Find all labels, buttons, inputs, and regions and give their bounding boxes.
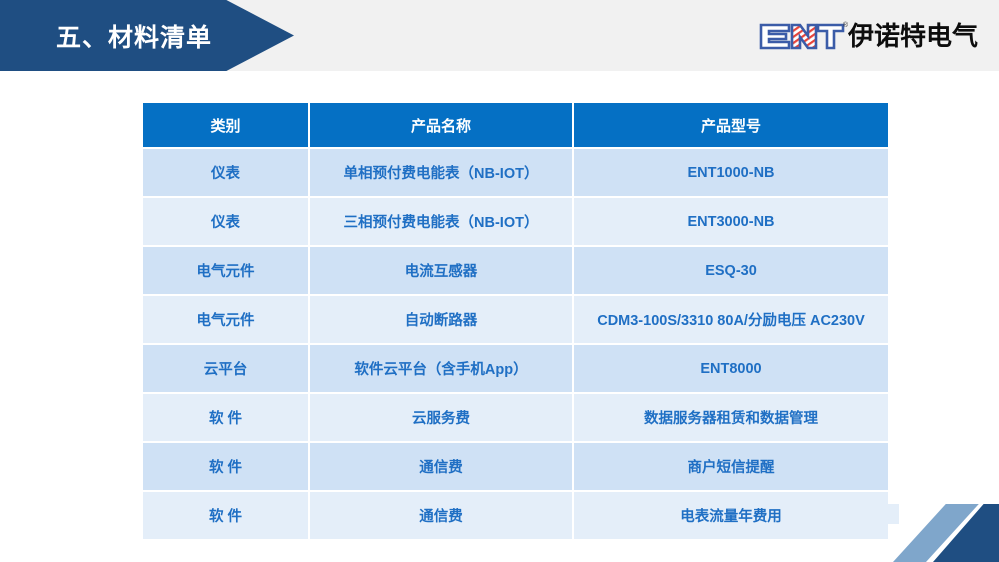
table-row: 软 件 通信费 电表流量年费用: [143, 492, 888, 539]
column-header-product-model: 产品型号: [574, 103, 888, 147]
ent-logo-icon: ®: [759, 23, 845, 50]
slide-header-band: 五、材料清单 ® 伊诺特电气: [0, 0, 999, 71]
corner-decoration-dark-shape: [889, 504, 999, 562]
table-row: 软 件 云服务费 数据服务器租赁和数据管理: [143, 394, 888, 441]
cell-category: 电气元件: [143, 247, 308, 294]
cell-product-name: 通信费: [310, 492, 572, 539]
cell-product-model: ENT1000-NB: [574, 149, 888, 196]
registered-trademark-icon: ®: [843, 22, 848, 29]
page-title: 五、材料清单: [56, 18, 212, 54]
corner-decoration-light-stripe: [893, 504, 999, 562]
cell-product-model: 商户短信提醒: [574, 443, 888, 490]
cell-product-model: 数据服务器租赁和数据管理: [574, 394, 888, 441]
cell-product-name: 自动断路器: [310, 296, 572, 343]
cell-category: 仪表: [143, 198, 308, 245]
column-header-product-name: 产品名称: [310, 103, 572, 147]
table-row: 仪表 单相预付费电能表（NB-IOT） ENT1000-NB: [143, 149, 888, 196]
table-row: 云平台 软件云平台（含手机App） ENT8000: [143, 345, 888, 392]
cell-product-model: ENT8000: [574, 345, 888, 392]
cell-category: 云平台: [143, 345, 308, 392]
cell-category: 软 件: [143, 443, 308, 490]
column-header-category: 类别: [143, 103, 308, 147]
brand-logo: ® 伊诺特电气: [759, 18, 978, 54]
corner-decoration: [889, 504, 999, 562]
cell-product-name: 单相预付费电能表（NB-IOT）: [310, 149, 572, 196]
table-row: 电气元件 电流互感器 ESQ-30: [143, 247, 888, 294]
corner-decoration-accent-tab: [883, 504, 899, 524]
cell-product-model: ENT3000-NB: [574, 198, 888, 245]
company-name: 伊诺特电气: [848, 23, 978, 49]
table-header-row: 类别 产品名称 产品型号: [143, 103, 888, 147]
table-row: 软 件 通信费 商户短信提醒: [143, 443, 888, 490]
cell-product-model: ESQ-30: [574, 247, 888, 294]
cell-product-name: 云服务费: [310, 394, 572, 441]
cell-product-model: CDM3-100S/3310 80A/分励电压 AC230V: [574, 296, 888, 343]
table-row: 电气元件 自动断路器 CDM3-100S/3310 80A/分励电压 AC230…: [143, 296, 888, 343]
cell-category: 软 件: [143, 492, 308, 539]
material-list-table: 类别 产品名称 产品型号 仪表 单相预付费电能表（NB-IOT） ENT1000…: [141, 101, 890, 541]
cell-category: 电气元件: [143, 296, 308, 343]
cell-product-name: 软件云平台（含手机App）: [310, 345, 572, 392]
cell-category: 软 件: [143, 394, 308, 441]
cell-category: 仪表: [143, 149, 308, 196]
cell-product-model: 电表流量年费用: [574, 492, 888, 539]
cell-product-name: 通信费: [310, 443, 572, 490]
cell-product-name: 电流互感器: [310, 247, 572, 294]
cell-product-name: 三相预付费电能表（NB-IOT）: [310, 198, 572, 245]
material-list-table-container: 类别 产品名称 产品型号 仪表 单相预付费电能表（NB-IOT） ENT1000…: [141, 101, 890, 541]
table-row: 仪表 三相预付费电能表（NB-IOT） ENT3000-NB: [143, 198, 888, 245]
